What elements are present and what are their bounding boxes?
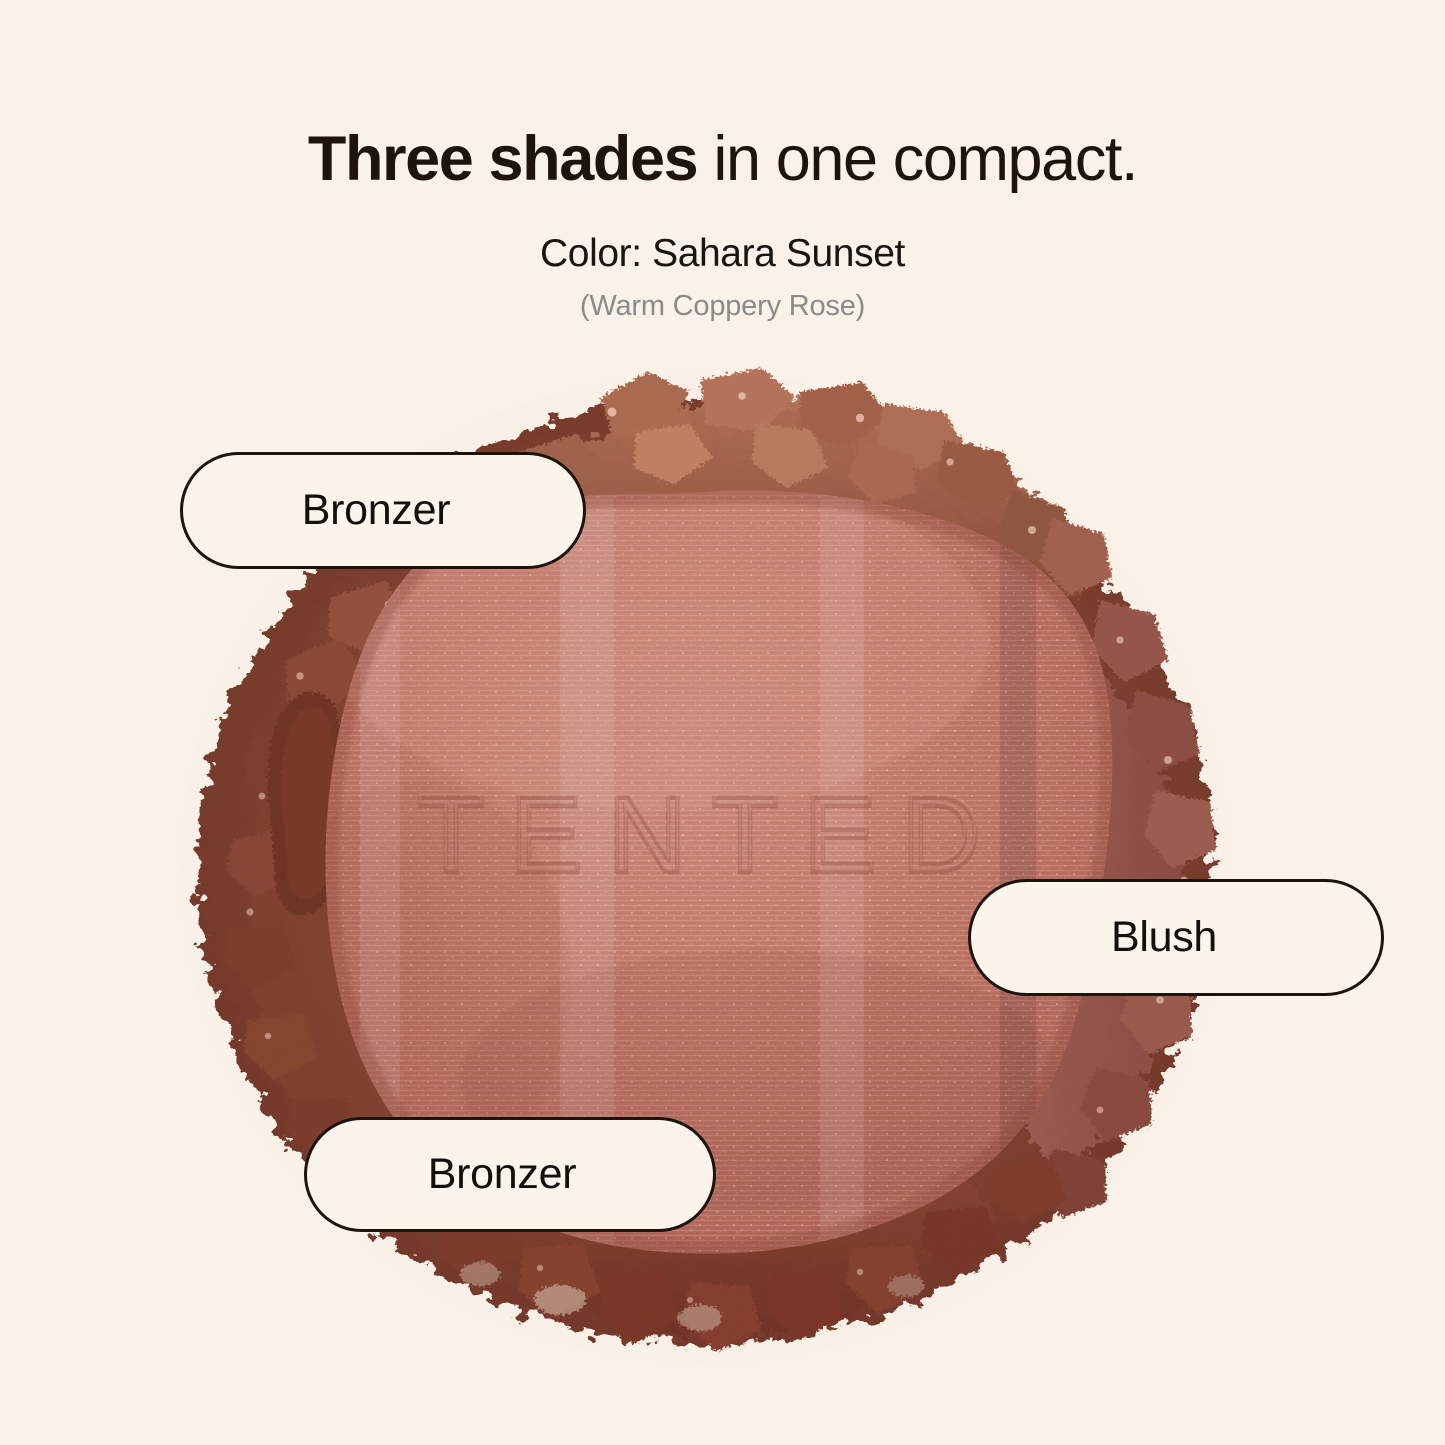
- headline-regular-part: in one compact.: [697, 124, 1137, 194]
- callout-label-bronzer-top: Bronzer: [302, 486, 450, 535]
- shade-name-label: Color: Sahara Sunset: [0, 232, 1445, 276]
- shade-description-label: (Warm Coppery Rose): [0, 290, 1445, 323]
- callout-pill-bronzer-bottom: Bronzer: [304, 1117, 716, 1232]
- callout-label-blush: Blush: [1111, 913, 1217, 962]
- crushed-powder-compact-illustration: TENTED TENTED: [0, 0, 1445, 1445]
- callout-pill-blush: Blush: [968, 879, 1384, 996]
- page-headline: Three shades in one compact.: [0, 126, 1445, 192]
- product-marketing-image: TENTED TENTED Three shades in one compac…: [0, 0, 1445, 1445]
- callout-label-bronzer-bottom: Bronzer: [428, 1150, 576, 1199]
- headline-bold-part: Three shades: [308, 124, 697, 194]
- callout-pill-bronzer-top: Bronzer: [180, 452, 586, 569]
